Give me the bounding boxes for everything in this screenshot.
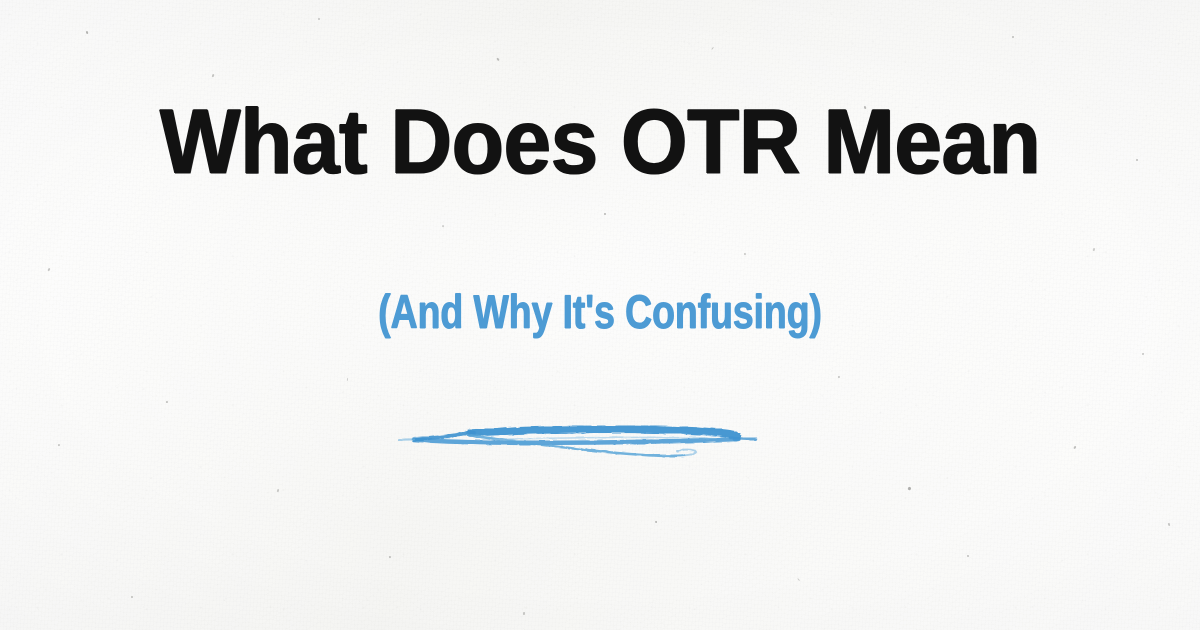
page-subtitle: (And Why It's Confusing) bbox=[120, 286, 1080, 338]
poster-content: What Does OTR Mean (And Why It's Confusi… bbox=[0, 0, 1200, 630]
page-title: What Does OTR Mean bbox=[42, 96, 1158, 188]
hand-drawn-scribble-underline bbox=[398, 398, 778, 478]
poster-canvas: What Does OTR Mean (And Why It's Confusi… bbox=[0, 0, 1200, 630]
